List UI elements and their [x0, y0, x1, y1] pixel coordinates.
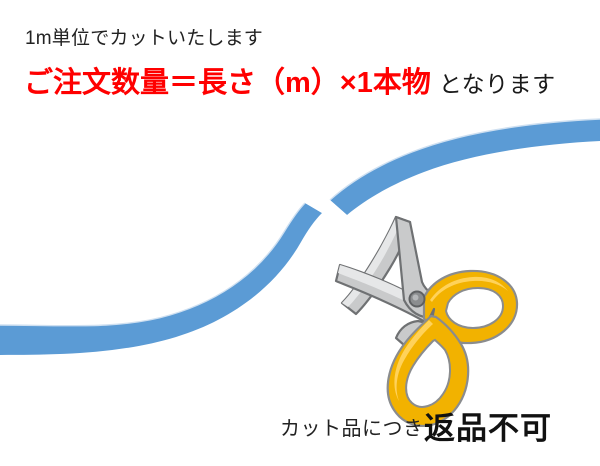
cut-service-notice-graphic: 1m単位でカットいたします ご注文数量＝長さ（m）×1本物となります カット品に…: [0, 0, 600, 466]
scissors-pivot-highlight: [413, 295, 419, 301]
return-policy-emphasis: 返品不可: [424, 413, 552, 444]
cable-left-fill: [0, 203, 322, 355]
order-rule-suffix: となります: [439, 71, 556, 97]
scissors-icon: [336, 217, 517, 426]
return-policy-prefix: カット品につき: [280, 419, 424, 439]
blue-cable-left-segment: [0, 203, 322, 355]
cut-unit-text: 1m単位でカットいたします: [25, 29, 263, 48]
order-rule-text: ご注文数量＝長さ（m）×1本物となります: [24, 69, 556, 98]
blue-cable-right-segment: [330, 119, 600, 215]
order-rule-highlight: ご注文数量＝長さ（m）×1本物: [24, 67, 431, 99]
cable-left-highlight: [0, 203, 305, 326]
cable-right-fill: [330, 119, 600, 215]
